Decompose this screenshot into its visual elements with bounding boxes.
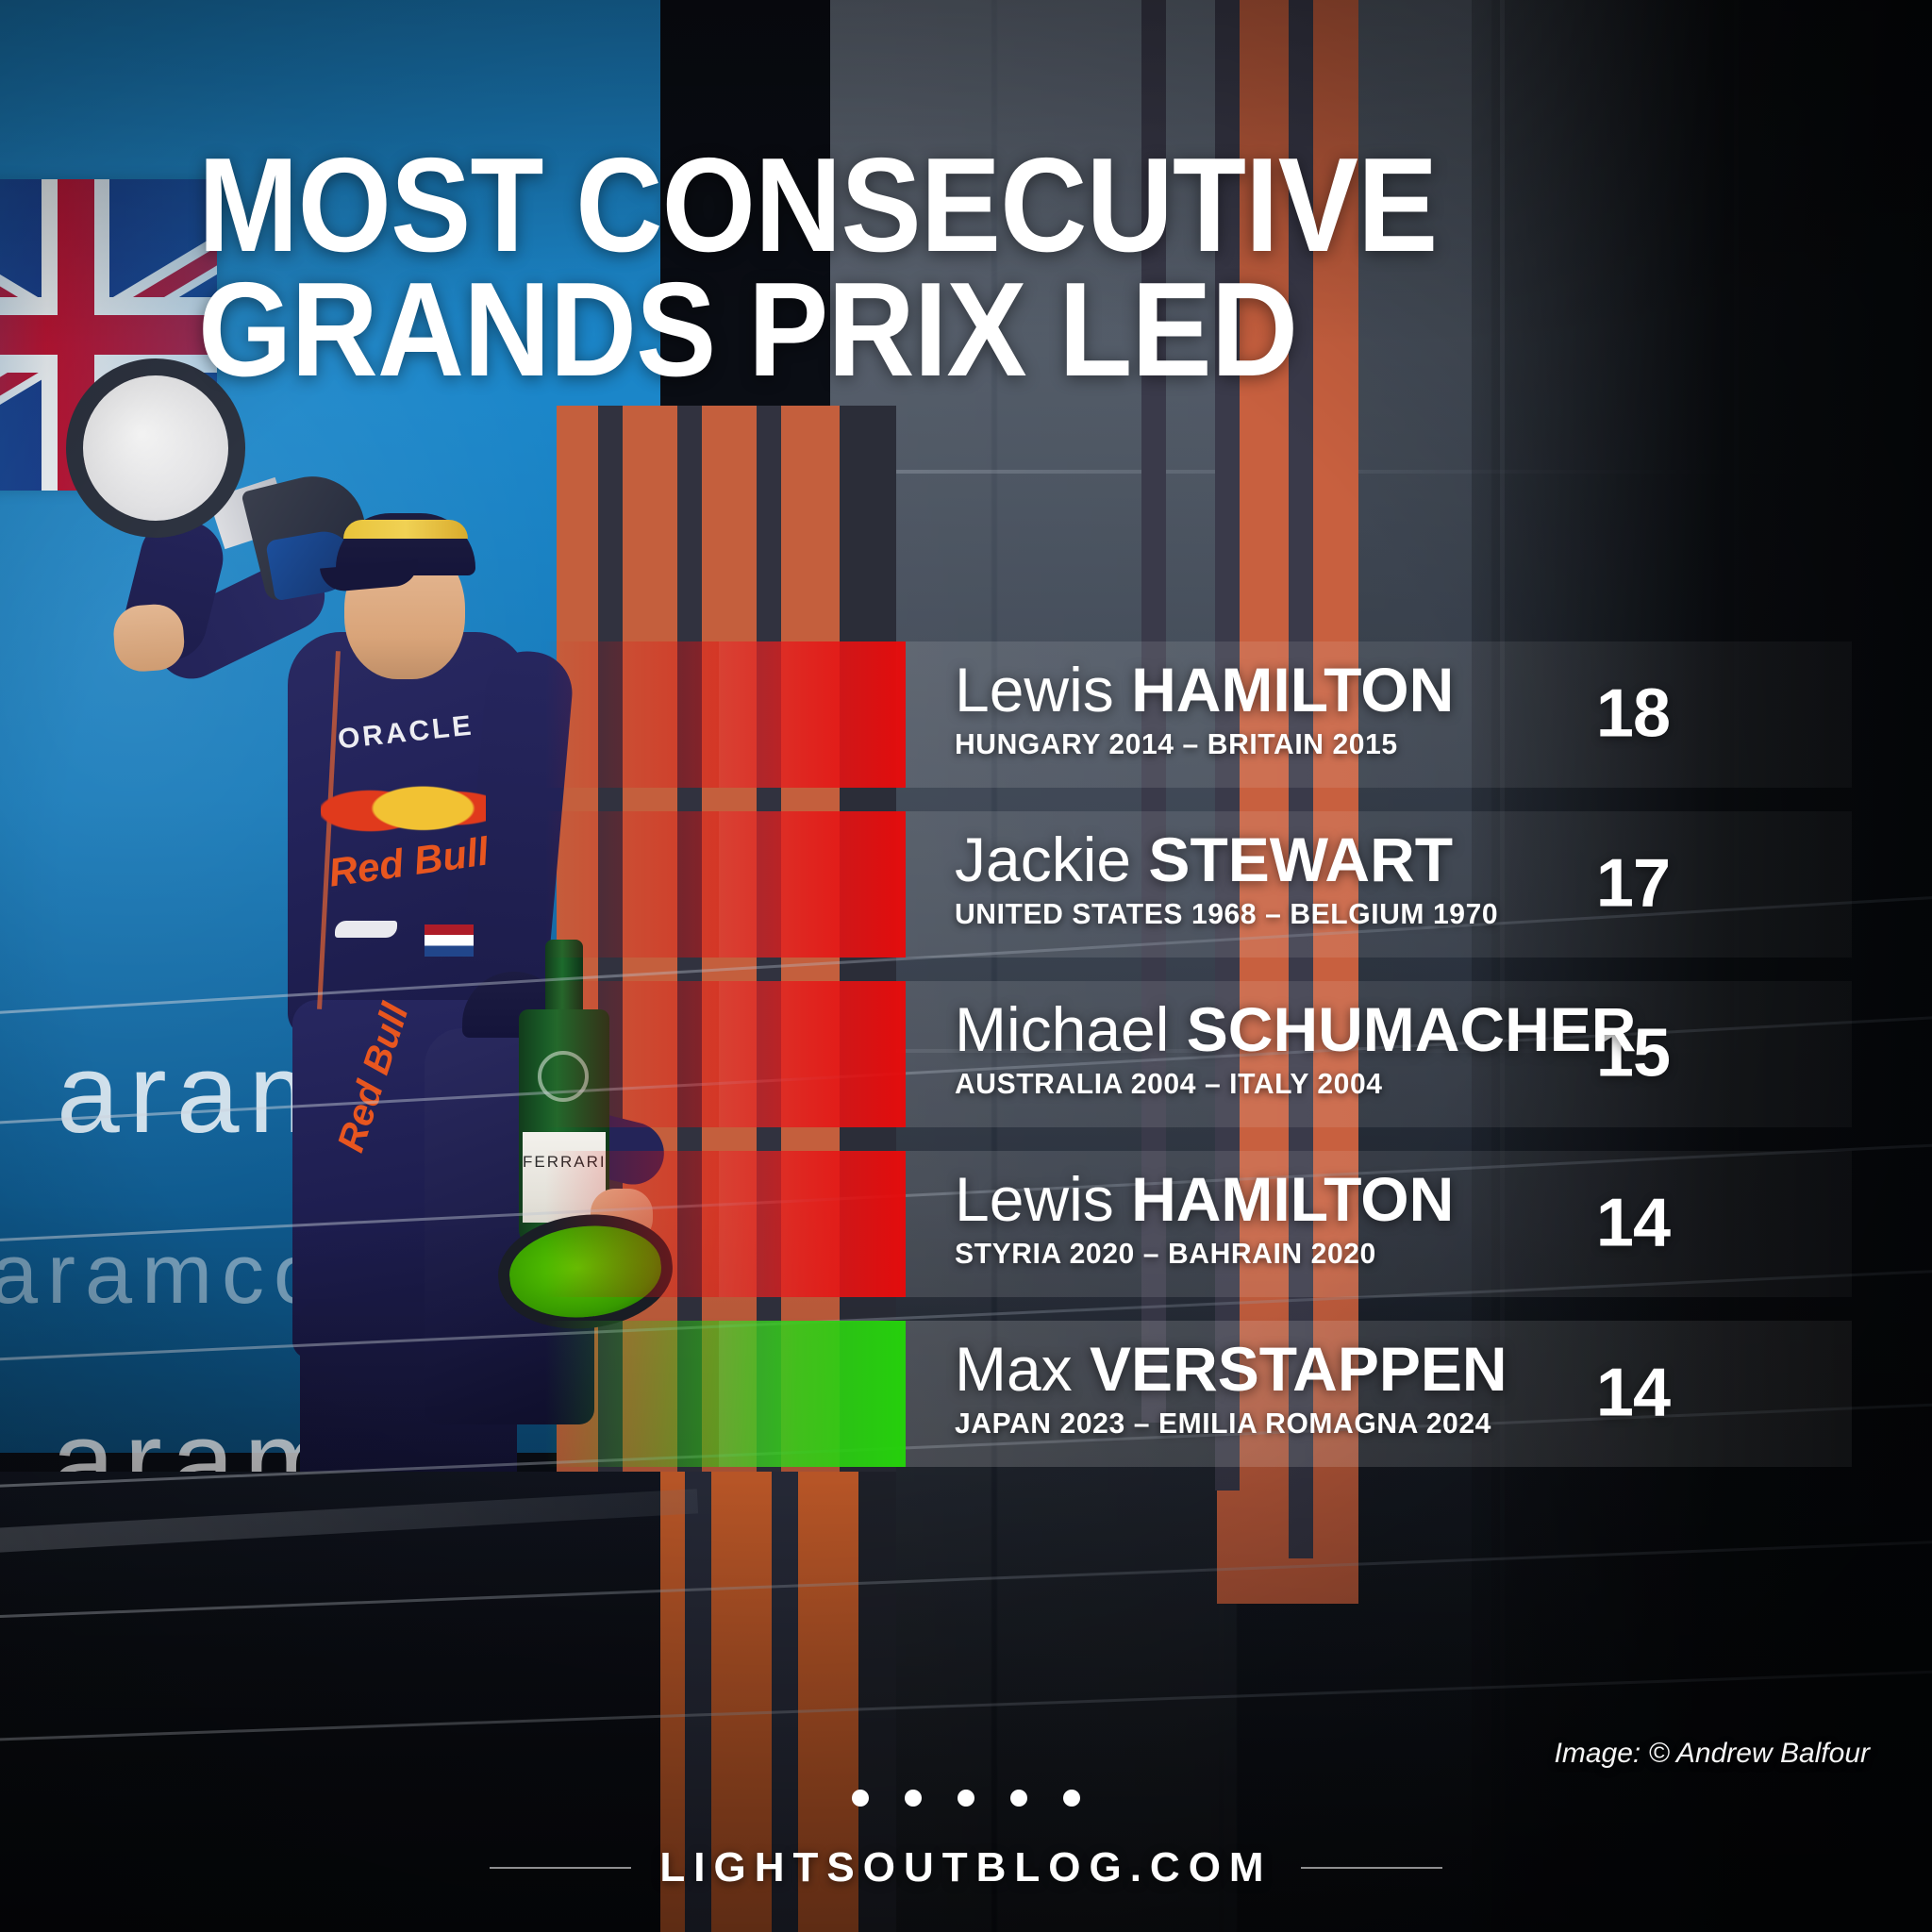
row-text-group: Jackie STEWART UNITED STATES 1968 – BELG… [955, 811, 1515, 958]
race-span: UNITED STATES 1968 – BELGIUM 1970 [955, 897, 1498, 931]
rank-accent-block [545, 811, 906, 958]
driver-first-name: Lewis [955, 655, 1131, 724]
driver-last-name: HAMILTON [1131, 655, 1454, 724]
image-credit: Image: © Andrew Balfour [1555, 1738, 1870, 1770]
rank-count: 14 [1596, 1354, 1670, 1431]
rank-accent-block [545, 981, 906, 1127]
row-text-group: Max VERSTAPPEN JAPAN 2023 – EMILIA ROMAG… [955, 1321, 1508, 1467]
driver-first-name: Lewis [955, 1164, 1131, 1234]
footer-brand: LIGHTSOUTBLOG.COM [0, 1844, 1932, 1891]
driver-name: Lewis HAMILTON [955, 658, 1454, 722]
list-item: 14 Max VERSTAPPEN JAPAN 2023 – EMILIA RO… [0, 1321, 1932, 1467]
rank-accent-block [545, 1321, 906, 1467]
ranking-list: 18 Lewis HAMILTON HUNGARY 2014 – BRITAIN… [0, 641, 1932, 1491]
list-item: 17 Jackie STEWART UNITED STATES 1968 – B… [0, 811, 1932, 958]
race-span: HUNGARY 2014 – BRITAIN 2015 [955, 727, 1439, 761]
rank-accent-block [545, 1151, 906, 1297]
driver-last-name: STEWART [1148, 824, 1453, 894]
row-text-group: Lewis HAMILTON STYRIA 2020 – BAHRAIN 202… [955, 1151, 1454, 1297]
dot-icon [852, 1790, 869, 1807]
driver-last-name: HAMILTON [1131, 1164, 1454, 1234]
driver-name: Jackie STEWART [955, 828, 1515, 891]
divider-right [1301, 1867, 1442, 1869]
driver-name: Michael SCHUMACHER [955, 998, 1636, 1061]
driver-first-name: Jackie [955, 824, 1148, 894]
list-item: 18 Lewis HAMILTON HUNGARY 2014 – BRITAIN… [0, 641, 1932, 788]
infographic-poster: aramco aramco aramco [0, 0, 1932, 1932]
row-text-group: Michael SCHUMACHER AUSTRALIA 2004 – ITAL… [955, 981, 1636, 1127]
race-span: AUSTRALIA 2004 – ITALY 2004 [955, 1067, 1616, 1101]
dot-icon [1063, 1790, 1080, 1807]
title-line-2: GRANDS PRIX LED [198, 268, 1641, 392]
driver-name: Max VERSTAPPEN [955, 1338, 1508, 1401]
dot-icon [1010, 1790, 1027, 1807]
driver-last-name: SCHUMACHER [1187, 994, 1637, 1064]
rank-count: 14 [1596, 1184, 1670, 1261]
driver-first-name: Max [955, 1334, 1090, 1404]
list-item: 15 Michael SCHUMACHER AUSTRALIA 2004 – I… [0, 981, 1932, 1127]
driver-last-name: VERSTAPPEN [1090, 1334, 1507, 1404]
list-item: 14 Lewis HAMILTON STYRIA 2020 – BAHRAIN … [0, 1151, 1932, 1297]
dot-icon [905, 1790, 922, 1807]
driver-name: Lewis HAMILTON [955, 1168, 1454, 1231]
decorative-dots [852, 1790, 1080, 1807]
race-span: STYRIA 2020 – BAHRAIN 2020 [955, 1237, 1439, 1271]
rank-count: 18 [1596, 675, 1670, 752]
rank-count: 17 [1596, 844, 1670, 922]
page-title: MOST CONSECUTIVE GRANDS PRIX LED [198, 143, 1802, 392]
rank-accent-block [545, 641, 906, 788]
row-text-group: Lewis HAMILTON HUNGARY 2014 – BRITAIN 20… [955, 641, 1454, 788]
title-line-1: MOST CONSECUTIVE [198, 143, 1641, 268]
dot-icon [958, 1790, 974, 1807]
driver-first-name: Michael [955, 994, 1187, 1064]
divider-left [490, 1867, 631, 1869]
race-span: JAPAN 2023 – EMILIA ROMAGNA 2024 [955, 1407, 1491, 1441]
brand-wordmark[interactable]: LIGHTSOUTBLOG.COM [659, 1844, 1272, 1891]
